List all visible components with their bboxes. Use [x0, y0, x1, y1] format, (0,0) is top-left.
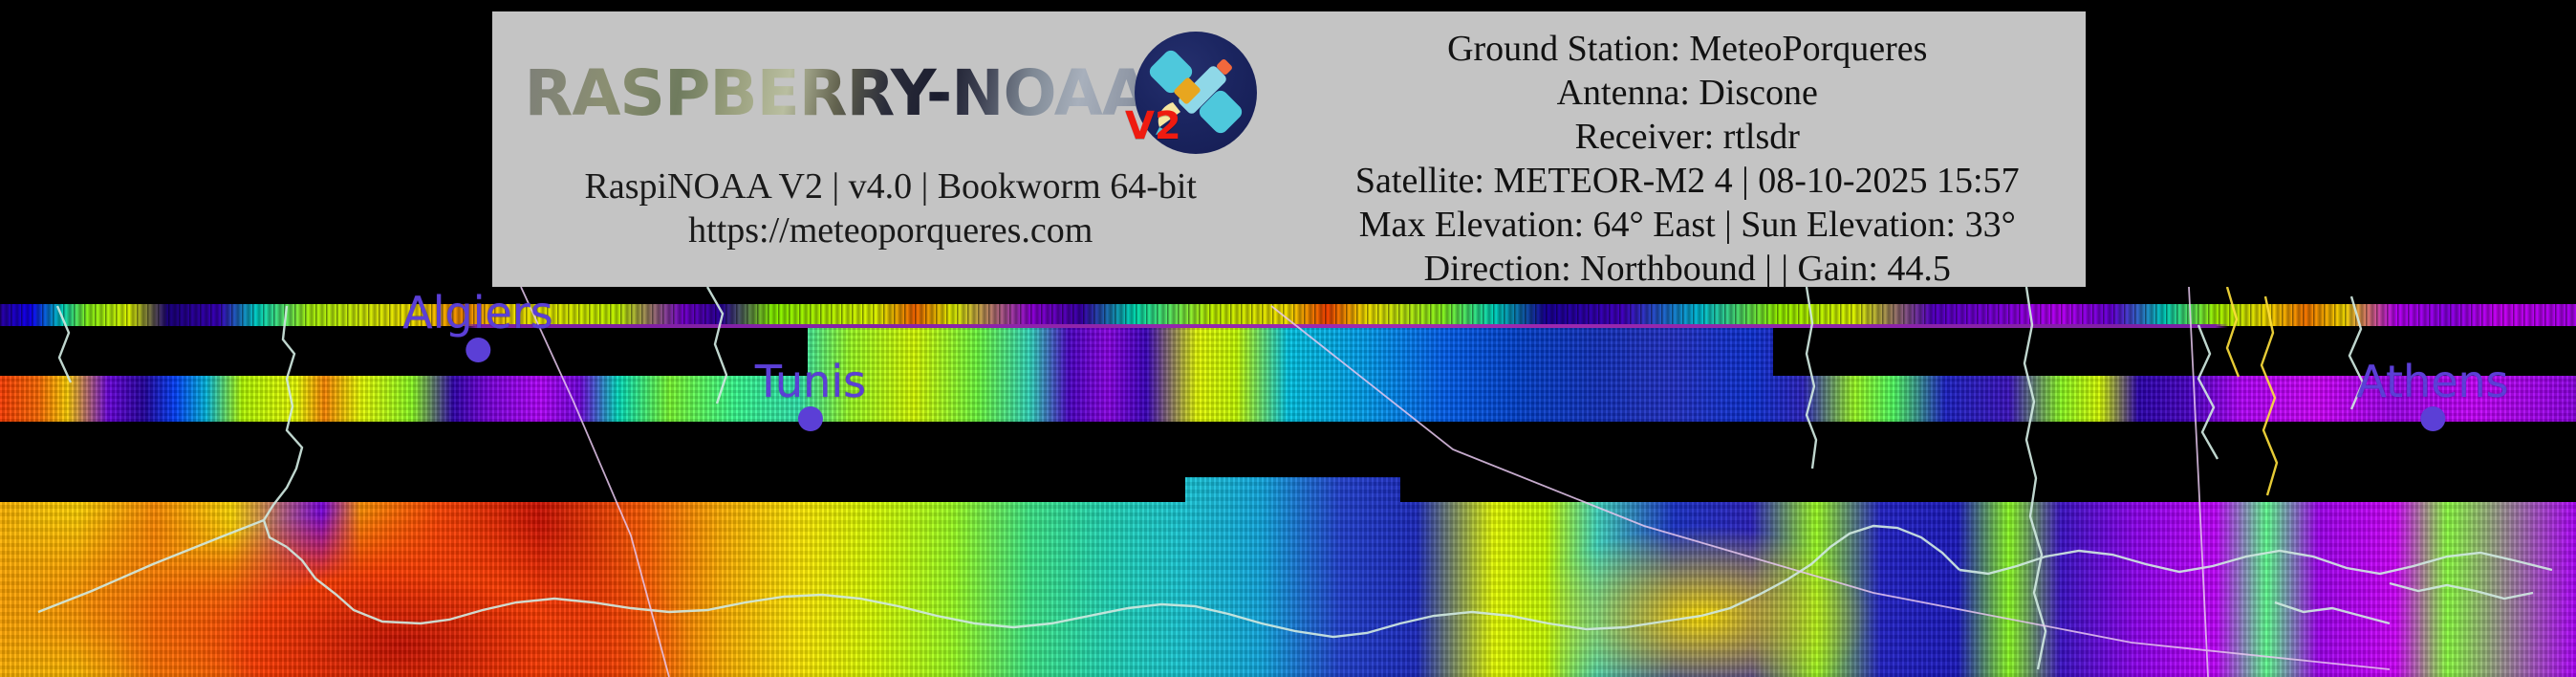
version-badge: V2 — [1125, 104, 1181, 148]
city-dot — [2420, 406, 2445, 431]
city-marker-tunis: Tunis — [755, 359, 866, 431]
satellite-icon: V2 — [1135, 32, 1257, 154]
info-satellite: Satellite: METEOR-M2 4 | 08-10-2025 15:5… — [1355, 159, 2020, 203]
data-gap — [0, 422, 2576, 464]
data-gap — [1400, 464, 2576, 502]
raspberry-noaa-pass-image: Algiers Tunis Athens RASPBERRY-NOAA — [0, 0, 2576, 677]
branding-block: RASPBERRY-NOAA — [492, 11, 1289, 287]
data-gap — [0, 464, 1185, 502]
software-version-line: RaspiNOAA V2 | v4.0 | Bookworm 64-bit — [585, 164, 1197, 208]
city-label: Athens — [2356, 359, 2508, 404]
info-antenna: Antenna: Discone — [1557, 71, 1818, 115]
info-elevation: Max Elevation: 64° East | Sun Elevation:… — [1359, 203, 2016, 247]
city-dot — [465, 338, 490, 362]
info-direction-gain: Direction: Northbound | | Gain: 44.5 — [1424, 247, 1951, 291]
city-label: Tunis — [755, 359, 866, 404]
info-ground-station: Ground Station: MeteoPorqueres — [1447, 27, 1927, 71]
city-marker-algiers: Algiers — [402, 290, 552, 362]
city-dot — [798, 406, 823, 431]
data-gap — [1185, 464, 1400, 477]
city-label: Algiers — [402, 290, 552, 336]
brand-row: RASPBERRY-NOAA — [525, 21, 1257, 164]
info-header-panel: RASPBERRY-NOAA — [492, 11, 2086, 287]
scan-band-top — [0, 303, 2576, 326]
city-marker-athens: Athens — [2356, 359, 2508, 431]
satellite-imagery: Algiers Tunis Athens — [0, 287, 2576, 677]
pass-info-block: Ground Station: MeteoPorqueres Antenna: … — [1289, 11, 2087, 287]
brand-wordmark: RASPBERRY-NOAA — [525, 56, 1150, 130]
info-receiver: Receiver: rtlsdr — [1575, 115, 1800, 159]
data-gap — [0, 287, 2576, 304]
website-link[interactable]: https://meteoporqueres.com — [688, 208, 1093, 252]
